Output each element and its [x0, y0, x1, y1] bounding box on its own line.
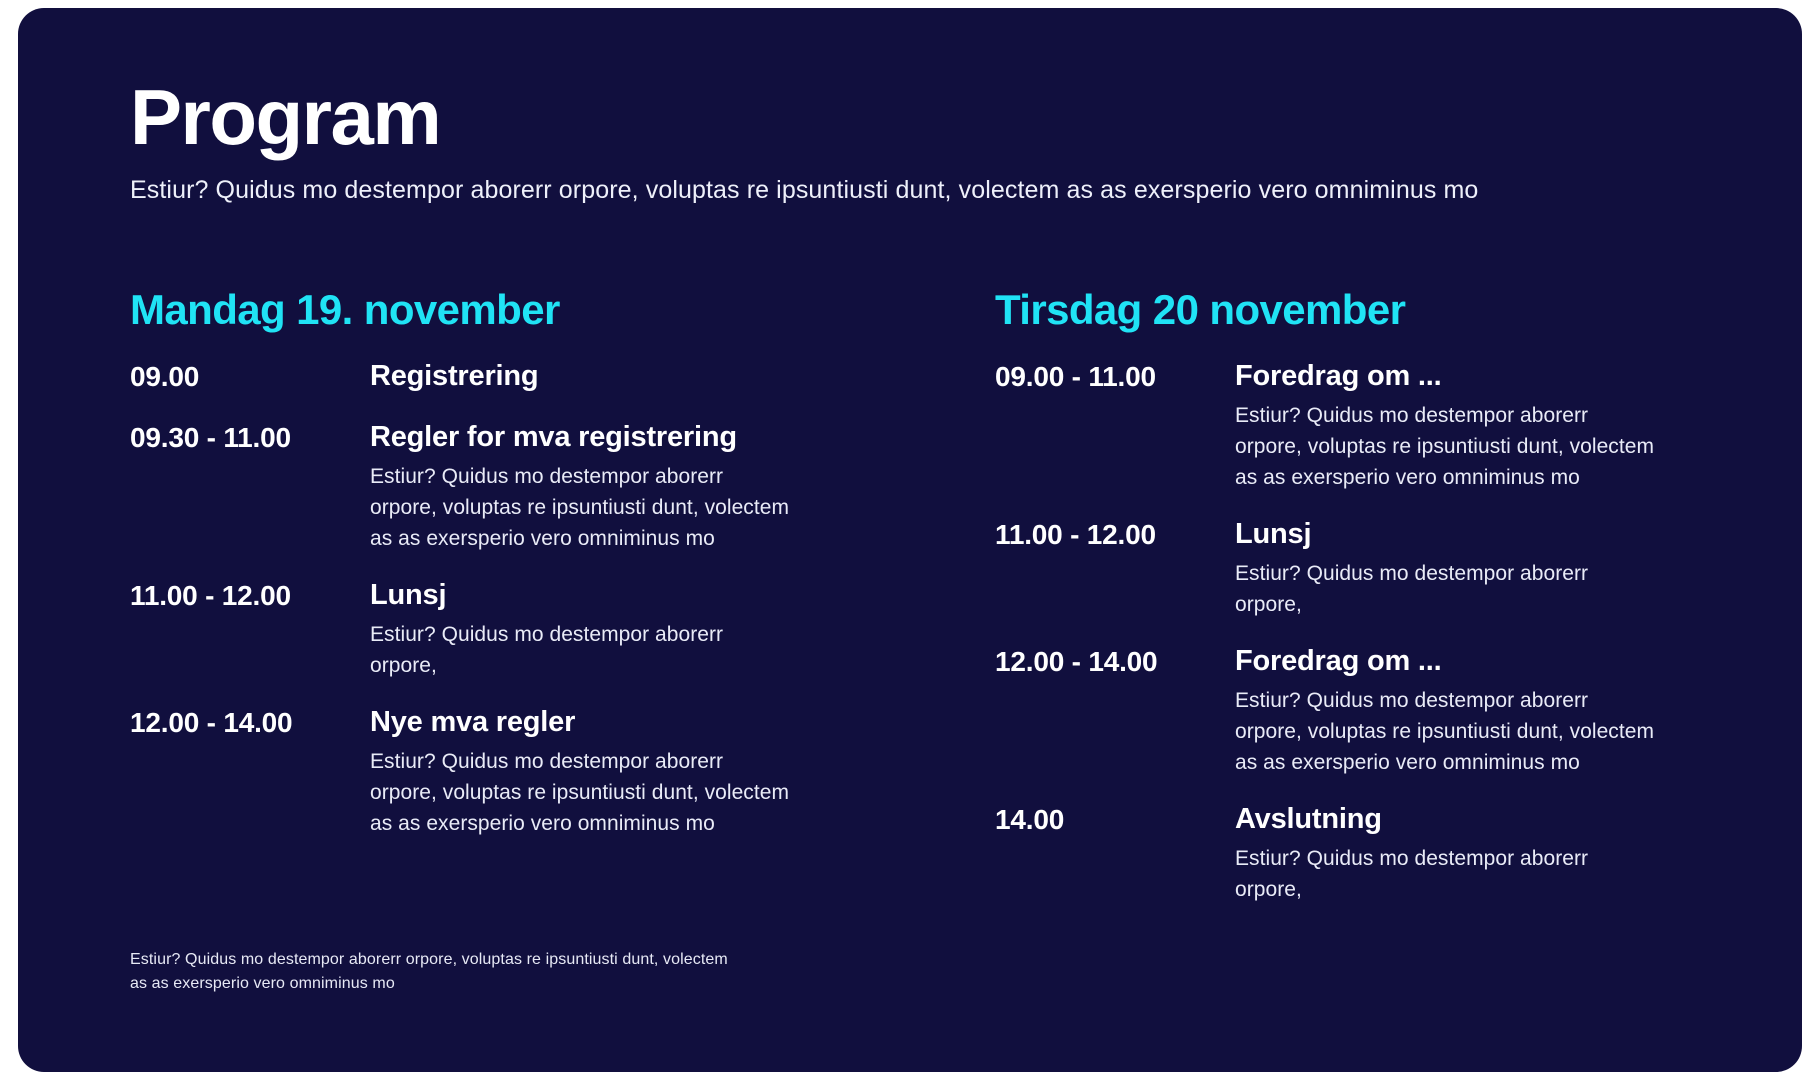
- schedule-entry: 11.00 - 12.00 Lunsj Estiur? Quidus mo de…: [995, 515, 1735, 620]
- schedule-entry: 12.00 - 14.00 Nye mva regler Estiur? Qui…: [130, 703, 870, 839]
- schedule-entry: 09.00 - 11.00 Foredrag om ... Estiur? Qu…: [995, 357, 1735, 493]
- entry-body: Lunsj Estiur? Quidus mo destempor aborer…: [370, 576, 870, 681]
- entry-body: Nye mva regler Estiur? Quidus mo destemp…: [370, 703, 870, 839]
- entry-description: Estiur? Quidus mo destempor aborerr orpo…: [1235, 685, 1655, 778]
- entry-time: 12.00 - 14.00: [995, 642, 1235, 681]
- entry-time: 11.00 - 12.00: [995, 515, 1235, 554]
- entry-description: Estiur? Quidus mo destempor aborerr orpo…: [1235, 558, 1655, 620]
- program-column-monday: Mandag 19. november 09.00 Registrering 0…: [130, 285, 870, 905]
- page-title: Program: [130, 74, 1690, 160]
- schedule-entry: 09.00 Registrering: [130, 357, 870, 396]
- entry-heading: Nye mva regler: [370, 703, 870, 742]
- entry-body: Lunsj Estiur? Quidus mo destempor aborer…: [1235, 515, 1735, 620]
- entry-description: Estiur? Quidus mo destempor aborerr orpo…: [370, 746, 790, 839]
- entry-heading: Lunsj: [370, 576, 870, 615]
- day-title-tuesday: Tirsdag 20 november: [995, 285, 1735, 335]
- day-title-monday: Mandag 19. november: [130, 285, 870, 335]
- schedule-entry: 14.00 Avslutning Estiur? Quidus mo deste…: [995, 800, 1735, 905]
- entry-body: Registrering: [370, 357, 870, 396]
- entry-time: 09.30 - 11.00: [130, 418, 370, 457]
- entry-body: Foredrag om ... Estiur? Quidus mo destem…: [1235, 642, 1735, 778]
- entry-heading: Registrering: [370, 357, 870, 396]
- schedule-entry: 12.00 - 14.00 Foredrag om ... Estiur? Qu…: [995, 642, 1735, 778]
- entry-body: Foredrag om ... Estiur? Quidus mo destem…: [1235, 357, 1735, 493]
- slide-header: Program Estiur? Quidus mo destempor abor…: [130, 74, 1690, 206]
- entry-heading: Lunsj: [1235, 515, 1735, 554]
- program-column-tuesday: Tirsdag 20 november 09.00 - 11.00 Foredr…: [995, 285, 1735, 905]
- page-subtitle: Estiur? Quidus mo destempor aborerr orpo…: [130, 174, 1690, 206]
- entry-heading: Foredrag om ...: [1235, 357, 1735, 396]
- entry-body: Regler for mva registrering Estiur? Quid…: [370, 418, 870, 554]
- entry-time: 09.00: [130, 357, 370, 396]
- schedule-entry: 11.00 - 12.00 Lunsj Estiur? Quidus mo de…: [130, 576, 870, 681]
- entry-description: Estiur? Quidus mo destempor aborerr orpo…: [1235, 400, 1655, 493]
- entry-body: Avslutning Estiur? Quidus mo destempor a…: [1235, 800, 1735, 905]
- entry-time: 11.00 - 12.00: [130, 576, 370, 615]
- schedule-entry: 09.30 - 11.00 Regler for mva registrerin…: [130, 418, 870, 554]
- entry-description: Estiur? Quidus mo destempor aborerr orpo…: [370, 461, 790, 554]
- entry-heading: Foredrag om ...: [1235, 642, 1735, 681]
- entry-time: 12.00 - 14.00: [130, 703, 370, 742]
- entry-description: Estiur? Quidus mo destempor aborerr orpo…: [370, 619, 790, 681]
- entry-time: 14.00: [995, 800, 1235, 839]
- entry-heading: Avslutning: [1235, 800, 1735, 839]
- entry-description: Estiur? Quidus mo destempor aborerr orpo…: [1235, 843, 1655, 905]
- entry-heading: Regler for mva registrering: [370, 418, 870, 457]
- program-columns: Mandag 19. november 09.00 Registrering 0…: [130, 285, 1710, 905]
- entry-time: 09.00 - 11.00: [995, 357, 1235, 396]
- program-slide: Program Estiur? Quidus mo destempor abor…: [18, 8, 1802, 1072]
- footer-note: Estiur? Quidus mo destempor aborerr orpo…: [130, 948, 730, 996]
